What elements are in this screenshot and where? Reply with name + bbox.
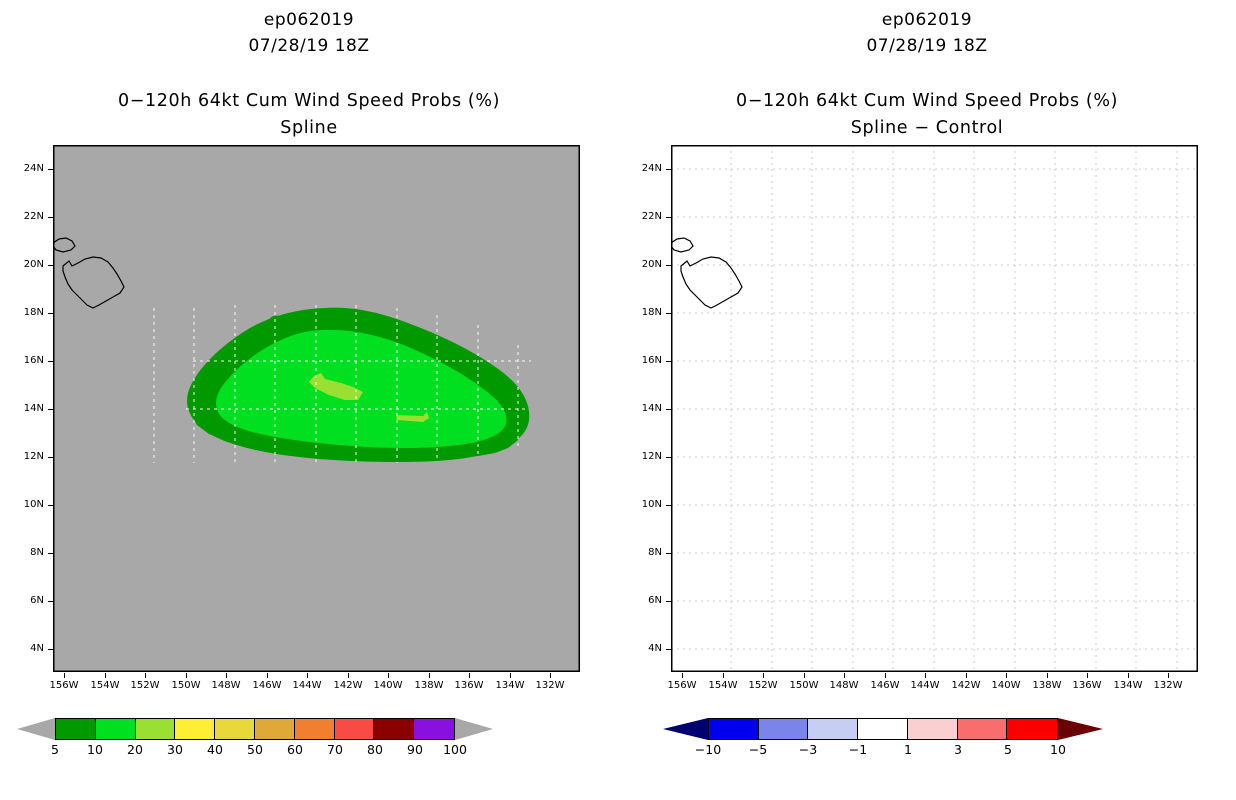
ytick-20N	[48, 265, 53, 266]
panel-right-datetime: 07/28/19 18Z	[618, 36, 1236, 56]
ylabel-20N-right: 20N	[628, 259, 662, 270]
difference-label-neg10: −10	[695, 742, 721, 757]
panel-left-storm-id: ep062019	[0, 10, 618, 30]
xlabel-136W-right: 136W	[1067, 680, 1107, 691]
difference-block-neg5-neg3[interactable]	[759, 719, 809, 739]
colorbar-label-5: 5	[51, 742, 59, 757]
colorbar-high-cap	[455, 718, 493, 740]
ytick-10N	[48, 505, 53, 506]
ytick-16N	[48, 361, 53, 362]
map-svg-spline	[53, 145, 580, 672]
xtick-140W-right	[1006, 673, 1007, 678]
colorbar-block-5-10[interactable]	[56, 719, 96, 739]
ylabel-16N: 16N	[10, 355, 44, 366]
ytick-24N	[48, 169, 53, 170]
xlabel-134W-right: 134W	[1108, 680, 1148, 691]
ytick-8N	[48, 553, 53, 554]
difference-label-neg1: −1	[849, 742, 867, 757]
xlabel-150W-right: 150W	[784, 680, 824, 691]
colorbar-tick-labels: 5 10 20 30 40 50 60 70 80 90 100	[55, 740, 455, 756]
colorbar-low-cap	[17, 718, 55, 740]
xtick-138W-right	[1047, 673, 1048, 678]
xtick-136W-right	[1087, 673, 1088, 678]
ylabel-24N: 24N	[10, 163, 44, 174]
difference-colorbar-low-cap	[663, 718, 708, 740]
colorbar-block-30-40[interactable]	[175, 719, 215, 739]
ytick-12N	[48, 457, 53, 458]
ytick-6N	[48, 601, 53, 602]
xlabel-142W-right: 142W	[946, 680, 986, 691]
ylabel-22N: 22N	[10, 211, 44, 222]
xlabel-146W: 146W	[247, 680, 287, 691]
ylabel-18N-right: 18N	[628, 307, 662, 318]
xtick-148W-right	[844, 673, 845, 678]
xtick-142W-right	[966, 673, 967, 678]
ytick-20N-right	[666, 265, 671, 266]
colorbar-block-10-20[interactable]	[96, 719, 136, 739]
xtick-150W	[186, 673, 187, 678]
xlabel-154W-right: 154W	[703, 680, 743, 691]
ytick-10N-right	[666, 505, 671, 506]
xlabel-140W-right: 140W	[986, 680, 1026, 691]
colorbar-label-10: 10	[87, 742, 103, 757]
xlabel-140W: 140W	[368, 680, 408, 691]
xlabel-138W-right: 138W	[1027, 680, 1067, 691]
ytick-8N-right	[666, 553, 671, 554]
xtick-134W	[510, 673, 511, 678]
xtick-156W	[64, 673, 65, 678]
colorbar-block-20-30[interactable]	[136, 719, 176, 739]
ylabel-12N: 12N	[10, 451, 44, 462]
difference-label-1: 1	[904, 742, 912, 757]
difference-block-neg1-1[interactable]	[858, 719, 908, 739]
xlabel-146W-right: 146W	[865, 680, 905, 691]
difference-label-5: 5	[1004, 742, 1012, 757]
xlabel-144W: 144W	[287, 680, 327, 691]
xlabel-156W-right: 156W	[662, 680, 702, 691]
ytick-22N-right	[666, 217, 671, 218]
ytick-4N-right	[666, 649, 671, 650]
panel-right-title: 0−120h 64kt Cum Wind Speed Probs (%)	[618, 91, 1236, 111]
colorbar-label-70: 70	[327, 742, 343, 757]
difference-block-1-3[interactable]	[908, 719, 958, 739]
ytick-12N-right	[666, 457, 671, 458]
colorbar-label-100: 100	[443, 742, 467, 757]
xtick-152W-right	[763, 673, 764, 678]
ylabel-10N: 10N	[10, 499, 44, 510]
ytick-18N	[48, 313, 53, 314]
ylabel-4N-right: 4N	[628, 643, 662, 654]
difference-colorbar-blocks[interactable]	[708, 718, 1058, 740]
ylabel-8N: 8N	[10, 547, 44, 558]
colorbar-block-50-60[interactable]	[255, 719, 295, 739]
xtick-142W	[348, 673, 349, 678]
xlabel-152W: 152W	[125, 680, 165, 691]
xtick-156W-right	[682, 673, 683, 678]
ytick-6N-right	[666, 601, 671, 602]
ytick-14N-right	[666, 409, 671, 410]
panel-left-datetime: 07/28/19 18Z	[0, 36, 618, 56]
xlabel-144W-right: 144W	[905, 680, 945, 691]
colorbar-label-60: 60	[287, 742, 303, 757]
difference-colorbar[interactable]: −10 −5 −3 −1 1 3 5 10	[708, 718, 1158, 740]
colorbar-block-40-50[interactable]	[215, 719, 255, 739]
colorbar-block-70-80[interactable]	[335, 719, 375, 739]
xlabel-138W: 138W	[409, 680, 449, 691]
xtick-144W	[307, 673, 308, 678]
difference-label-10: 10	[1050, 742, 1066, 757]
probability-colorbar[interactable]: 5 10 20 30 40 50 60 70 80 90 100	[55, 718, 555, 740]
xlabel-154W: 154W	[85, 680, 125, 691]
ylabel-6N-right: 6N	[628, 595, 662, 606]
ylabel-18N: 18N	[10, 307, 44, 318]
colorbar-block-90-100[interactable]	[414, 719, 454, 739]
ylabel-14N: 14N	[10, 403, 44, 414]
difference-block-neg3-neg1[interactable]	[808, 719, 858, 739]
xtick-134W-right	[1128, 673, 1129, 678]
xlabel-148W: 148W	[206, 680, 246, 691]
ylabel-22N-right: 22N	[628, 211, 662, 222]
colorbar-label-40: 40	[207, 742, 223, 757]
ytick-14N	[48, 409, 53, 410]
xlabel-152W-right: 152W	[743, 680, 783, 691]
colorbar-block-80-90[interactable]	[374, 719, 414, 739]
ylabel-12N-right: 12N	[628, 451, 662, 462]
xtick-148W	[226, 673, 227, 678]
ytick-24N-right	[666, 169, 671, 170]
xlabel-132W-right: 132W	[1148, 680, 1188, 691]
ylabel-10N-right: 10N	[628, 499, 662, 510]
xlabel-142W: 142W	[328, 680, 368, 691]
ylabel-8N-right: 8N	[628, 547, 662, 558]
ylabel-20N: 20N	[10, 259, 44, 270]
xtick-150W-right	[804, 673, 805, 678]
xtick-132W	[550, 673, 551, 678]
ylabel-24N-right: 24N	[628, 163, 662, 174]
panel-right-subtitle: Spline − Control	[618, 118, 1236, 138]
xlabel-148W-right: 148W	[824, 680, 864, 691]
xtick-132W-right	[1168, 673, 1169, 678]
xtick-144W-right	[925, 673, 926, 678]
map-svg-difference	[671, 145, 1198, 672]
difference-label-neg5: −5	[749, 742, 767, 757]
xlabel-150W: 150W	[166, 680, 206, 691]
xlabel-136W: 136W	[449, 680, 489, 691]
xlabel-132W: 132W	[530, 680, 570, 691]
xtick-154W	[105, 673, 106, 678]
map-plot-spline[interactable]	[53, 145, 580, 672]
xtick-154W-right	[723, 673, 724, 678]
colorbar-label-30: 30	[167, 742, 183, 757]
ytick-4N	[48, 649, 53, 650]
panel-left-subtitle: Spline	[0, 118, 618, 138]
panel-right-storm-id: ep062019	[618, 10, 1236, 30]
ytick-22N	[48, 217, 53, 218]
xtick-138W	[429, 673, 430, 678]
difference-colorbar-high-cap	[1058, 718, 1103, 740]
ytick-18N-right	[666, 313, 671, 314]
difference-block-5-10[interactable]	[1007, 719, 1057, 739]
colorbar-label-90: 90	[407, 742, 423, 757]
xtick-146W-right	[885, 673, 886, 678]
xtick-152W	[145, 673, 146, 678]
ylabel-4N: 4N	[10, 643, 44, 654]
ytick-16N-right	[666, 361, 671, 362]
difference-label-3: 3	[954, 742, 962, 757]
xtick-136W	[469, 673, 470, 678]
colorbar-blocks[interactable]	[55, 718, 455, 740]
ylabel-6N: 6N	[10, 595, 44, 606]
panel-spline-minus-control: ep062019 07/28/19 18Z 0−120h 64kt Cum Wi…	[618, 0, 1236, 800]
xtick-146W	[267, 673, 268, 678]
panel-left-title: 0−120h 64kt Cum Wind Speed Probs (%)	[0, 91, 618, 111]
difference-block-3-5[interactable]	[958, 719, 1008, 739]
colorbar-label-50: 50	[247, 742, 263, 757]
difference-block-neg10-neg5[interactable]	[709, 719, 759, 739]
xtick-140W	[388, 673, 389, 678]
difference-label-neg3: −3	[799, 742, 817, 757]
colorbar-label-80: 80	[367, 742, 383, 757]
xlabel-156W: 156W	[44, 680, 84, 691]
ylabel-16N-right: 16N	[628, 355, 662, 366]
ylabel-14N-right: 14N	[628, 403, 662, 414]
panel-spline: ep062019 07/28/19 18Z 0−120h 64kt Cum Wi…	[0, 0, 618, 800]
colorbar-block-60-70[interactable]	[295, 719, 335, 739]
difference-colorbar-tick-labels: −10 −5 −3 −1 1 3 5 10	[708, 740, 1058, 756]
map-plot-difference[interactable]	[671, 145, 1198, 672]
colorbar-label-20: 20	[127, 742, 143, 757]
xlabel-134W: 134W	[490, 680, 530, 691]
